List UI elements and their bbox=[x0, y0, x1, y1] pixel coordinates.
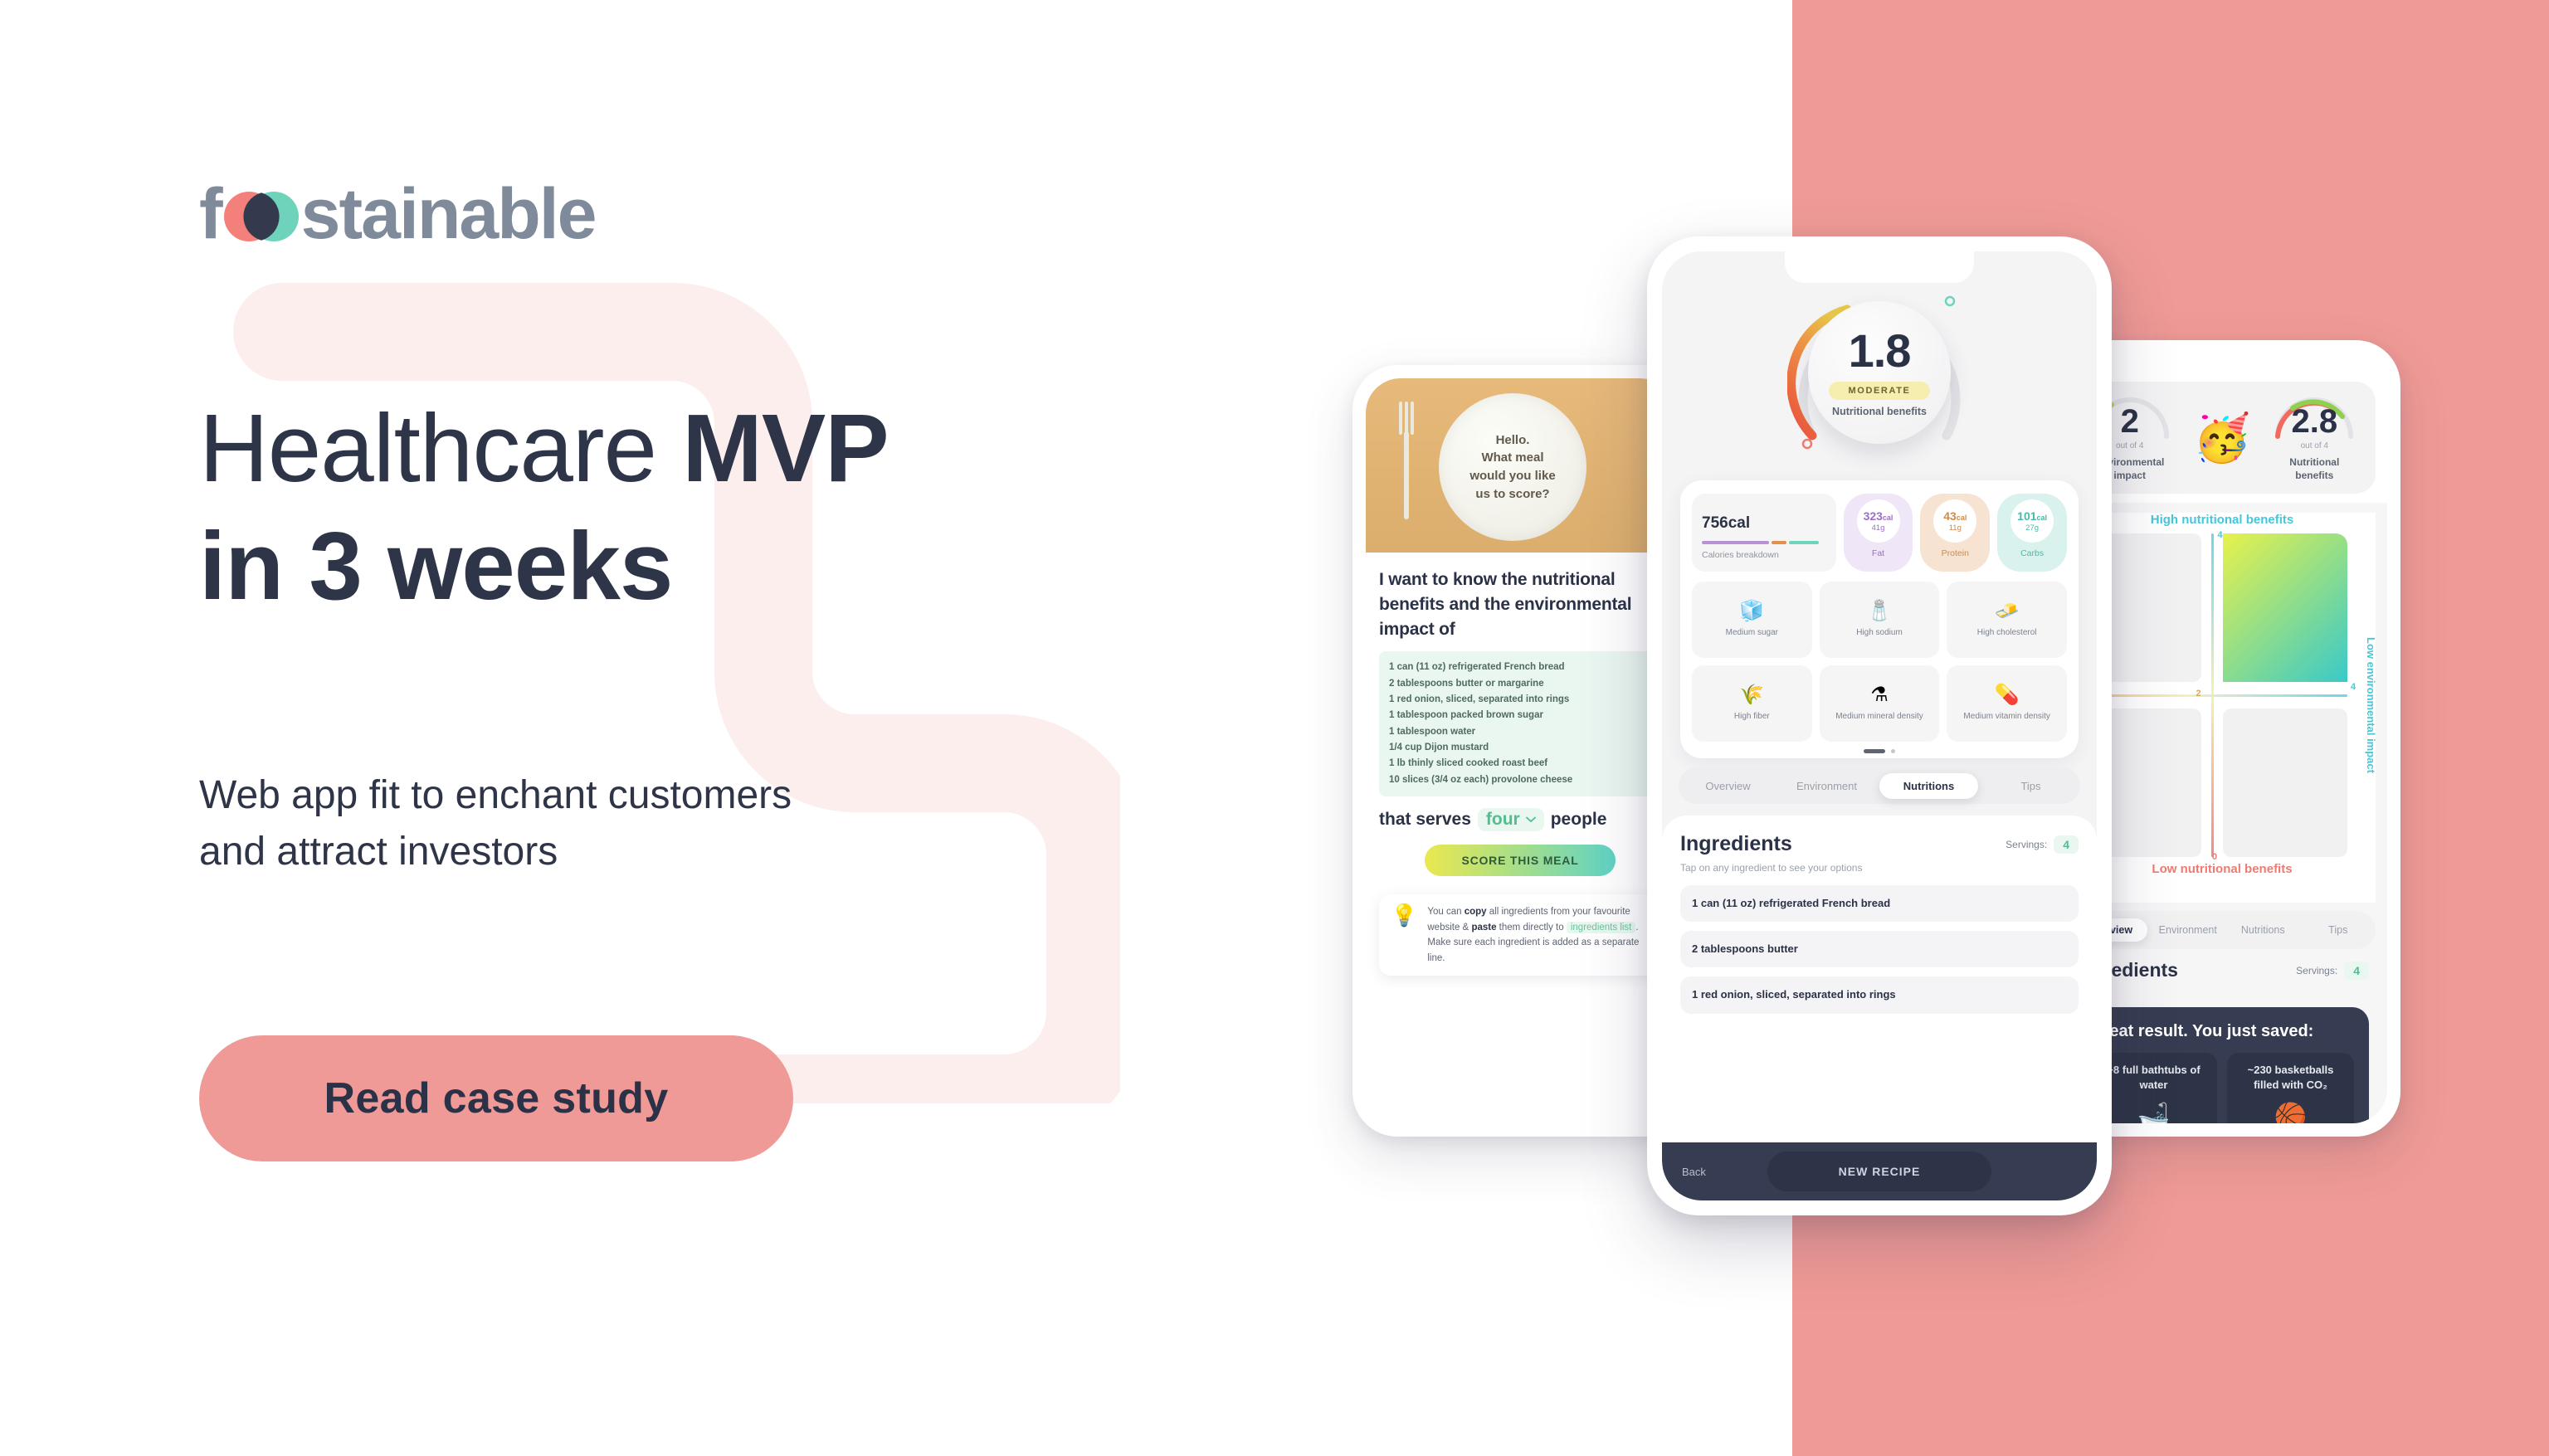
ingredient-line: 2 tablespoons butter or margarine bbox=[1389, 676, 1651, 692]
matrix-tick-top: 4 bbox=[2218, 530, 2223, 540]
calories-value-wrap: 756cal bbox=[1702, 505, 1826, 532]
calories-breakdown-label: Calories breakdown bbox=[1702, 550, 1826, 560]
phone-right-tabbar[interactable]: OverviewEnvironmentNutritionsTips bbox=[2069, 911, 2376, 949]
ingredient-rows: 1 can (11 oz) refrigerated French bread2… bbox=[1680, 885, 2079, 1014]
greeting-line-1: Hello. bbox=[1496, 431, 1530, 450]
servings-value: four bbox=[1486, 810, 1520, 830]
nutrient-tile-label: High fiber bbox=[1734, 712, 1770, 723]
fork-icon bbox=[1397, 398, 1416, 523]
ingredients-hint: Tap on any ingredient to see your option… bbox=[1680, 862, 2079, 874]
ingredient-row[interactable]: 1 can (11 oz) refrigerated French bread bbox=[1680, 885, 2079, 922]
meal-hero-banner: Hello. What meal would you like us to sc… bbox=[1366, 378, 1674, 553]
nutrient-tile[interactable]: ⚗Medium mineral density bbox=[1820, 665, 1940, 742]
phone-left-screen: Hello. What meal would you like us to sc… bbox=[1366, 378, 1674, 1123]
lightbulb-icon: 💡 bbox=[1391, 904, 1417, 926]
score-knob: 1.8 MODERATE Nutritional benefits bbox=[1808, 301, 1951, 444]
read-case-study-button[interactable]: Read case study bbox=[199, 1035, 793, 1161]
servings-count: 4 bbox=[2054, 835, 2079, 854]
tip-card: 💡 You can copy all ingredients from your… bbox=[1379, 894, 1661, 976]
tip-part-a: You can bbox=[1427, 907, 1464, 917]
calories-value: 756 bbox=[1702, 514, 1728, 532]
matrix-label-bottom: Low nutritional benefits bbox=[2069, 862, 2376, 876]
gauge-row: 2 out of 4 Environmental impact 🥳 bbox=[2069, 382, 2376, 494]
phone-mockup-left: Hello. What meal would you like us to sc… bbox=[1352, 365, 1688, 1137]
nutrient-tile-icon: 🌾 bbox=[1739, 685, 1764, 705]
carousel-dot-2[interactable] bbox=[1891, 749, 1895, 753]
servings-row: that serves four people bbox=[1379, 808, 1661, 831]
celebration-emoji-icon: 🥳 bbox=[2193, 411, 2251, 465]
phone-center-tabbar[interactable]: OverviewEnvironmentNutritionsTips bbox=[1679, 767, 2080, 804]
savings-stat-text: ~8 full bathtubs of water bbox=[2107, 1064, 2200, 1091]
savings-stat-card: ~230 basketballs filled with CO₂🏀That's … bbox=[2227, 1053, 2354, 1123]
nutrient-tile-label: Medium mineral density bbox=[1835, 712, 1923, 723]
ingredient-line: 1/4 cup Dijon mustard bbox=[1389, 740, 1651, 756]
headline-thin: Healthcare bbox=[199, 394, 656, 502]
ingredients-header: Ingredients Servings: 4 bbox=[1680, 832, 2079, 856]
matrix-tick-right: 4 bbox=[2351, 682, 2356, 692]
tab-overview[interactable]: Overview bbox=[1679, 780, 1777, 792]
macro-fat: 323cal41gFat bbox=[1844, 494, 1913, 572]
headline-line2: in 3 weeks bbox=[199, 512, 672, 620]
new-recipe-button[interactable]: NEW RECIPE bbox=[1767, 1152, 1991, 1191]
nutrient-tile-icon: ⚗ bbox=[1870, 685, 1889, 705]
calories-card: 756cal Calories breakdown bbox=[1692, 494, 1836, 572]
phone-center-screen: 1.8 MODERATE Nutritional benefits 756cal… bbox=[1662, 251, 2097, 1200]
logo-prefix: f bbox=[199, 178, 222, 250]
matrix-grid: 4 2 0 4 bbox=[2077, 533, 2347, 857]
page-title: Healthcare MVP in 3 weeks bbox=[199, 390, 1236, 625]
subhead-line1: Web app fit to enchant customers bbox=[199, 773, 792, 817]
gauge-arc-nut: 2.8 bbox=[2271, 393, 2357, 440]
phone-right-ingredients-header: Ingredients Servings: 4 bbox=[2075, 959, 2369, 981]
ingredient-row[interactable]: 1 red onion, sliced, separated into ring… bbox=[1680, 976, 2079, 1013]
right-servings-value: 4 bbox=[2344, 962, 2369, 980]
nutrient-tile-icon: 🧈 bbox=[1995, 601, 2020, 621]
brand-logo[interactable]: f stainable bbox=[199, 178, 595, 250]
greeting-line-4: us to score? bbox=[1475, 485, 1549, 504]
macro-protein: 43cal11gProtein bbox=[1920, 494, 1990, 572]
tab-tips[interactable]: Tips bbox=[1981, 780, 2080, 792]
hero-banner: f stainable Healthcare MVP in 3 weeks We… bbox=[0, 0, 2549, 1456]
carousel-pagination[interactable] bbox=[1662, 749, 2097, 753]
servings-display[interactable]: Servings: 4 bbox=[2006, 835, 2079, 854]
tab-nutritions[interactable]: Nutritions bbox=[2225, 924, 2301, 936]
greeting-line-2: What meal bbox=[1481, 449, 1543, 467]
page-subtitle: Web app fit to enchant customers and att… bbox=[199, 767, 1029, 880]
chevron-down-icon bbox=[1526, 816, 1536, 823]
tab-environment[interactable]: Environment bbox=[2151, 924, 2226, 936]
ingredient-line: 10 slices (3/4 oz each) provolone cheese bbox=[1389, 772, 1651, 788]
ingredients-textarea[interactable]: 1 can (11 oz) refrigerated French bread2… bbox=[1379, 651, 1661, 796]
logo-suffix: stainable bbox=[301, 178, 596, 250]
tab-environment[interactable]: Environment bbox=[1777, 780, 1876, 792]
matrix-label-right: Low environmental impact bbox=[2365, 637, 2377, 773]
subhead-line2: and attract investors bbox=[199, 830, 558, 874]
nutrient-tile-label: Medium vitamin density bbox=[1963, 712, 2049, 723]
env-gauge-value: 2 bbox=[2121, 406, 2139, 437]
plate-greeting: Hello. What meal would you like us to sc… bbox=[1439, 393, 1586, 541]
calories-breakdown-bar bbox=[1702, 541, 1826, 544]
tip-part-c: them directly to bbox=[1496, 923, 1566, 933]
prompt-form: I want to know the nutritional benefits … bbox=[1366, 553, 1674, 1123]
score-badge: MODERATE bbox=[1829, 382, 1931, 400]
bottom-action-bar: Back NEW RECIPE bbox=[1662, 1142, 2097, 1200]
tab-nutritions[interactable]: Nutritions bbox=[1879, 773, 1978, 799]
nut-gauge-value: 2.8 bbox=[2291, 406, 2337, 437]
tab-tips[interactable]: Tips bbox=[2301, 924, 2376, 936]
score-caption: Nutritional benefits bbox=[1832, 406, 1927, 417]
headline-bold: MVP bbox=[682, 394, 888, 502]
plate-graphic: Hello. What meal would you like us to sc… bbox=[1439, 393, 1586, 541]
score-this-meal-button[interactable]: SCORE THIS MEAL bbox=[1425, 845, 1616, 876]
nut-gauge-caption: Nutritional benefits bbox=[2265, 456, 2363, 482]
nutrient-tile[interactable]: 💊Medium vitamin density bbox=[1947, 665, 2067, 742]
servings-select[interactable]: four bbox=[1478, 808, 1544, 831]
macros-row: 756cal Calories breakdown 323cal41gFat43… bbox=[1692, 494, 2067, 572]
savings-heading: Great result. You just saved: bbox=[2090, 1022, 2354, 1041]
matrix-x-axis bbox=[2077, 694, 2347, 697]
nut-caption-l2: benefits bbox=[2295, 470, 2333, 481]
phone-notch bbox=[1785, 251, 1974, 283]
nutrient-tile-label: Medium sugar bbox=[1726, 628, 1778, 639]
calories-unit: cal bbox=[1728, 514, 1750, 532]
nutritional-benefits-gauge: 2.8 out of 4 Nutritional benefits bbox=[2265, 393, 2363, 482]
ingredient-row[interactable]: 2 tablespoons butter bbox=[1680, 931, 2079, 967]
phone-mockup-center: 1.8 MODERATE Nutritional benefits 756cal… bbox=[1647, 236, 2112, 1215]
nutrient-tile[interactable]: 🧈High cholesterol bbox=[1947, 582, 2067, 658]
nutrient-tile-icon: 💊 bbox=[1995, 685, 2020, 705]
ingredients-title: Ingredients bbox=[1680, 832, 1792, 856]
nut-gauge-out-of: out of 4 bbox=[2265, 441, 2363, 450]
right-servings[interactable]: Servings: 4 bbox=[2296, 962, 2369, 980]
ingredient-line: 1 lb thinly sliced cooked roast beef bbox=[1389, 756, 1651, 772]
ingredient-line: 1 tablespoon water bbox=[1389, 724, 1651, 740]
tip-text: You can copy all ingredients from your f… bbox=[1427, 904, 1650, 967]
tip-paste-word: paste bbox=[1471, 923, 1496, 933]
serves-suffix: people bbox=[1551, 810, 1607, 830]
savings-stat-icon: 🏀 bbox=[2234, 1101, 2347, 1123]
score-gauge-section: 1.8 MODERATE Nutritional benefits bbox=[1662, 273, 2097, 485]
nutrient-tile[interactable]: 🧊Medium sugar bbox=[1692, 582, 1812, 658]
nutrition-card: 756cal Calories breakdown 323cal41gFat43… bbox=[1680, 480, 2079, 758]
score-value: 1.8 bbox=[1849, 328, 1911, 374]
right-servings-label: Servings: bbox=[2296, 965, 2337, 976]
nutrient-tile-grid: 🧊Medium sugar🧂High sodium🧈High cholester… bbox=[1692, 582, 2067, 742]
ingredient-line: 1 red onion, sliced, separated into ring… bbox=[1389, 692, 1651, 708]
prompt-heading: I want to know the nutritional benefits … bbox=[1379, 567, 1661, 641]
quadrant-matrix-chart: High nutritional benefits 4 2 0 4 Low nu… bbox=[2069, 513, 2376, 903]
servings-label: Servings: bbox=[2006, 839, 2047, 850]
logo-overlapping-circles-icon bbox=[223, 185, 300, 243]
nutrient-tile-icon: 🧂 bbox=[1867, 601, 1892, 621]
nut-caption-l1: Nutritional bbox=[2289, 456, 2339, 468]
savings-summary-card: Great result. You just saved: ~8 full ba… bbox=[2075, 1007, 2369, 1123]
matrix-tick-bottom: 0 bbox=[2212, 852, 2217, 862]
tip-code-chip: ingredients list bbox=[1567, 922, 1636, 933]
env-caption-l2: impact bbox=[2113, 470, 2146, 481]
nutrient-tile-label: High cholesterol bbox=[1977, 628, 2037, 639]
matrix-tick-mid: 2 bbox=[2196, 689, 2201, 699]
greeting-line-3: would you like bbox=[1469, 467, 1555, 485]
matrix-quadrant-br bbox=[2223, 709, 2347, 857]
savings-stat-icon: 🛁 bbox=[2097, 1101, 2210, 1123]
matrix-label-top: High nutritional benefits bbox=[2069, 513, 2376, 527]
tip-copy-word: copy bbox=[1465, 907, 1487, 917]
savings-stat-text: ~230 basketballs filled with CO₂ bbox=[2248, 1064, 2334, 1091]
serves-prefix: that serves bbox=[1379, 810, 1471, 830]
back-button[interactable]: Back bbox=[1682, 1166, 1706, 1178]
ingredient-line: 1 tablespoon packed brown sugar bbox=[1389, 708, 1651, 723]
nutrient-tile[interactable]: 🌾High fiber bbox=[1692, 665, 1812, 742]
nutrient-tile[interactable]: 🧂High sodium bbox=[1820, 582, 1940, 658]
matrix-highlight-region bbox=[2223, 533, 2347, 682]
carousel-dot-active[interactable] bbox=[1864, 749, 1885, 753]
nutrient-tile-label: High sodium bbox=[1856, 628, 1903, 639]
nutrient-tile-icon: 🧊 bbox=[1739, 601, 1764, 621]
macro-carbs: 101cal27gCarbs bbox=[1997, 494, 2067, 572]
ingredient-line: 1 can (11 oz) refrigerated French bread bbox=[1389, 660, 1651, 675]
savings-card-grid: ~8 full bathtubs of water🛁That's ~1,039L… bbox=[2090, 1053, 2354, 1123]
